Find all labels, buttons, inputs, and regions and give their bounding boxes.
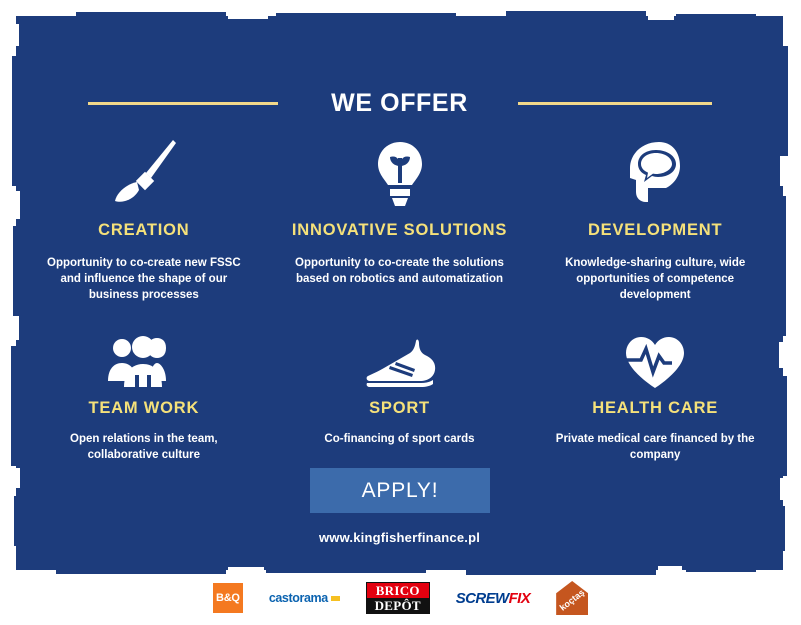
brand-logo-bar: B&Q castorama BRICO DEPÔT SCREW FIX koçt… [0,577,801,619]
benefit-card-creation: CREATION Opportunity to co-create new FS… [16,134,272,303]
header: WE OFFER [16,78,783,128]
torn-edge-chip [686,569,756,572]
apply-button[interactable]: APPLY! [310,468,490,513]
logo-castorama-accent-dash [331,596,340,601]
heart-pulse-icon [620,334,690,392]
benefit-description: Opportunity to co-create new FSSC and in… [36,255,251,303]
benefit-description: Knowledge-sharing culture, wide opportun… [548,255,763,303]
sneaker-icon [358,334,442,392]
paintbrush-icon [105,134,183,212]
lightbulb-sprout-icon [361,134,439,212]
torn-edge-chip [676,14,756,17]
torn-edge-chip [466,569,656,575]
benefit-card-team-work: TEAM WORK Open relations in the team, co… [16,334,272,463]
torn-edge-chip [76,12,226,17]
benefit-card-health-care: HEALTH CARE Private medical care finance… [527,334,783,463]
benefit-card-sport: SPORT Co-financing of sport cards [272,334,528,463]
benefit-description: Co-financing of sport cards [324,431,474,447]
people-group-icon [102,334,186,392]
blue-panel: WE OFFER CREATION Opportunity to co-crea… [16,16,783,570]
poster-canvas: WE OFFER CREATION Opportunity to co-crea… [0,0,801,625]
benefits-row-1: CREATION Opportunity to co-create new FS… [16,134,783,303]
benefit-description: Opportunity to co-create the solutions b… [292,255,507,287]
head-speech-bubble-icon [616,134,694,212]
torn-edge-chip [266,569,426,573]
logo-screwfix-part2: FIX [509,590,531,607]
benefit-title: HEALTH CARE [592,398,718,419]
logo-bq: B&Q [213,583,243,613]
benefit-title: INNOVATIVE SOLUTIONS [292,220,507,241]
benefit-description: Private medical care financed by the com… [548,431,763,463]
benefit-title: CREATION [98,220,189,241]
benefit-card-development: DEVELOPMENT Knowledge-sharing culture, w… [527,134,783,303]
torn-edge-nick [658,566,682,570]
torn-edge-nick [780,478,783,500]
torn-edge-nick [228,16,268,19]
torn-edge-chip [276,13,456,17]
benefit-title: SPORT [369,398,430,419]
website-url-link[interactable]: www.kingfisherfinance.pl [16,530,783,545]
logo-castorama: castorama [269,591,340,605]
torn-edge-nick [648,16,674,20]
logo-brico-depot: BRICO DEPÔT [366,582,430,614]
logo-castorama-wordmark: castorama [269,591,328,605]
benefit-description: Open relations in the team, collaborativ… [36,431,251,463]
logo-brico-bottom: DEPÔT [367,598,429,613]
logo-screwfix: SCREW FIX [456,590,530,607]
benefit-card-innovative-solutions: INNOVATIVE SOLUTIONS Opportunity to co-c… [272,134,528,303]
benefit-title: DEVELOPMENT [588,220,722,241]
divider-rule-right [518,102,712,105]
benefits-row-2: TEAM WORK Open relations in the team, co… [16,334,783,463]
torn-edge-chip [56,569,226,574]
logo-screwfix-part1: SCREW [456,590,509,607]
torn-edge-nick [16,24,19,46]
torn-edge-chip [506,11,646,17]
logo-brico-top: BRICO [367,583,429,598]
torn-edge-nick [16,468,20,488]
torn-edge-nick [228,567,264,570]
logo-koctas: koçtaş [556,581,588,615]
benefit-title: TEAM WORK [88,398,199,419]
